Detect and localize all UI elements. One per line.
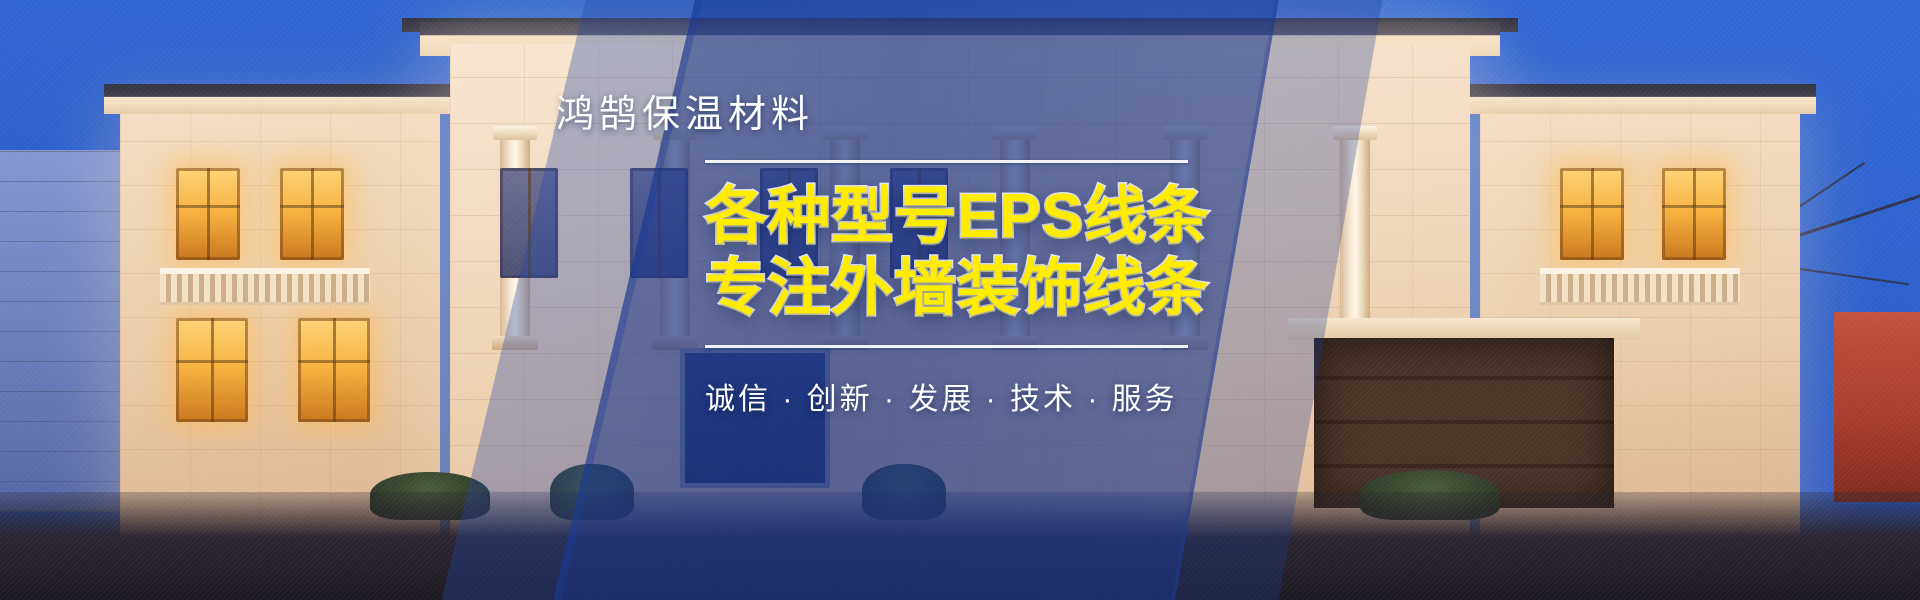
lit-window	[176, 318, 248, 422]
divider-top	[705, 160, 1188, 163]
lit-window	[280, 168, 344, 260]
lit-window	[1662, 168, 1726, 260]
brand-name: 鸿鹄保温材料	[556, 96, 1216, 134]
headline: 各种型号EPS线条 专注外墙装饰线条	[705, 181, 1216, 325]
garage-lintel	[1288, 318, 1640, 340]
headline-line-2: 专注外墙装饰线条	[705, 253, 1216, 325]
hero-banner: 鸿鹄保温材料 各种型号EPS线条 专注外墙装饰线条 诚信 · 创新 · 发展 ·…	[0, 0, 1920, 600]
banner-content: 鸿鹄保温材料 各种型号EPS线条 专注外墙装饰线条 诚信 · 创新 · 发展 ·…	[556, 96, 1216, 418]
lit-window	[176, 168, 240, 260]
red-structure	[1834, 312, 1920, 502]
lit-window	[1560, 168, 1624, 260]
tagline: 诚信 · 创新 · 发展 · 技术 · 服务	[705, 374, 1216, 418]
headline-line-1: 各种型号EPS线条	[705, 182, 1210, 251]
balcony-balustrade	[160, 268, 370, 302]
lit-window	[298, 318, 370, 422]
balcony-balustrade	[1540, 268, 1740, 302]
divider-bottom	[705, 345, 1188, 348]
